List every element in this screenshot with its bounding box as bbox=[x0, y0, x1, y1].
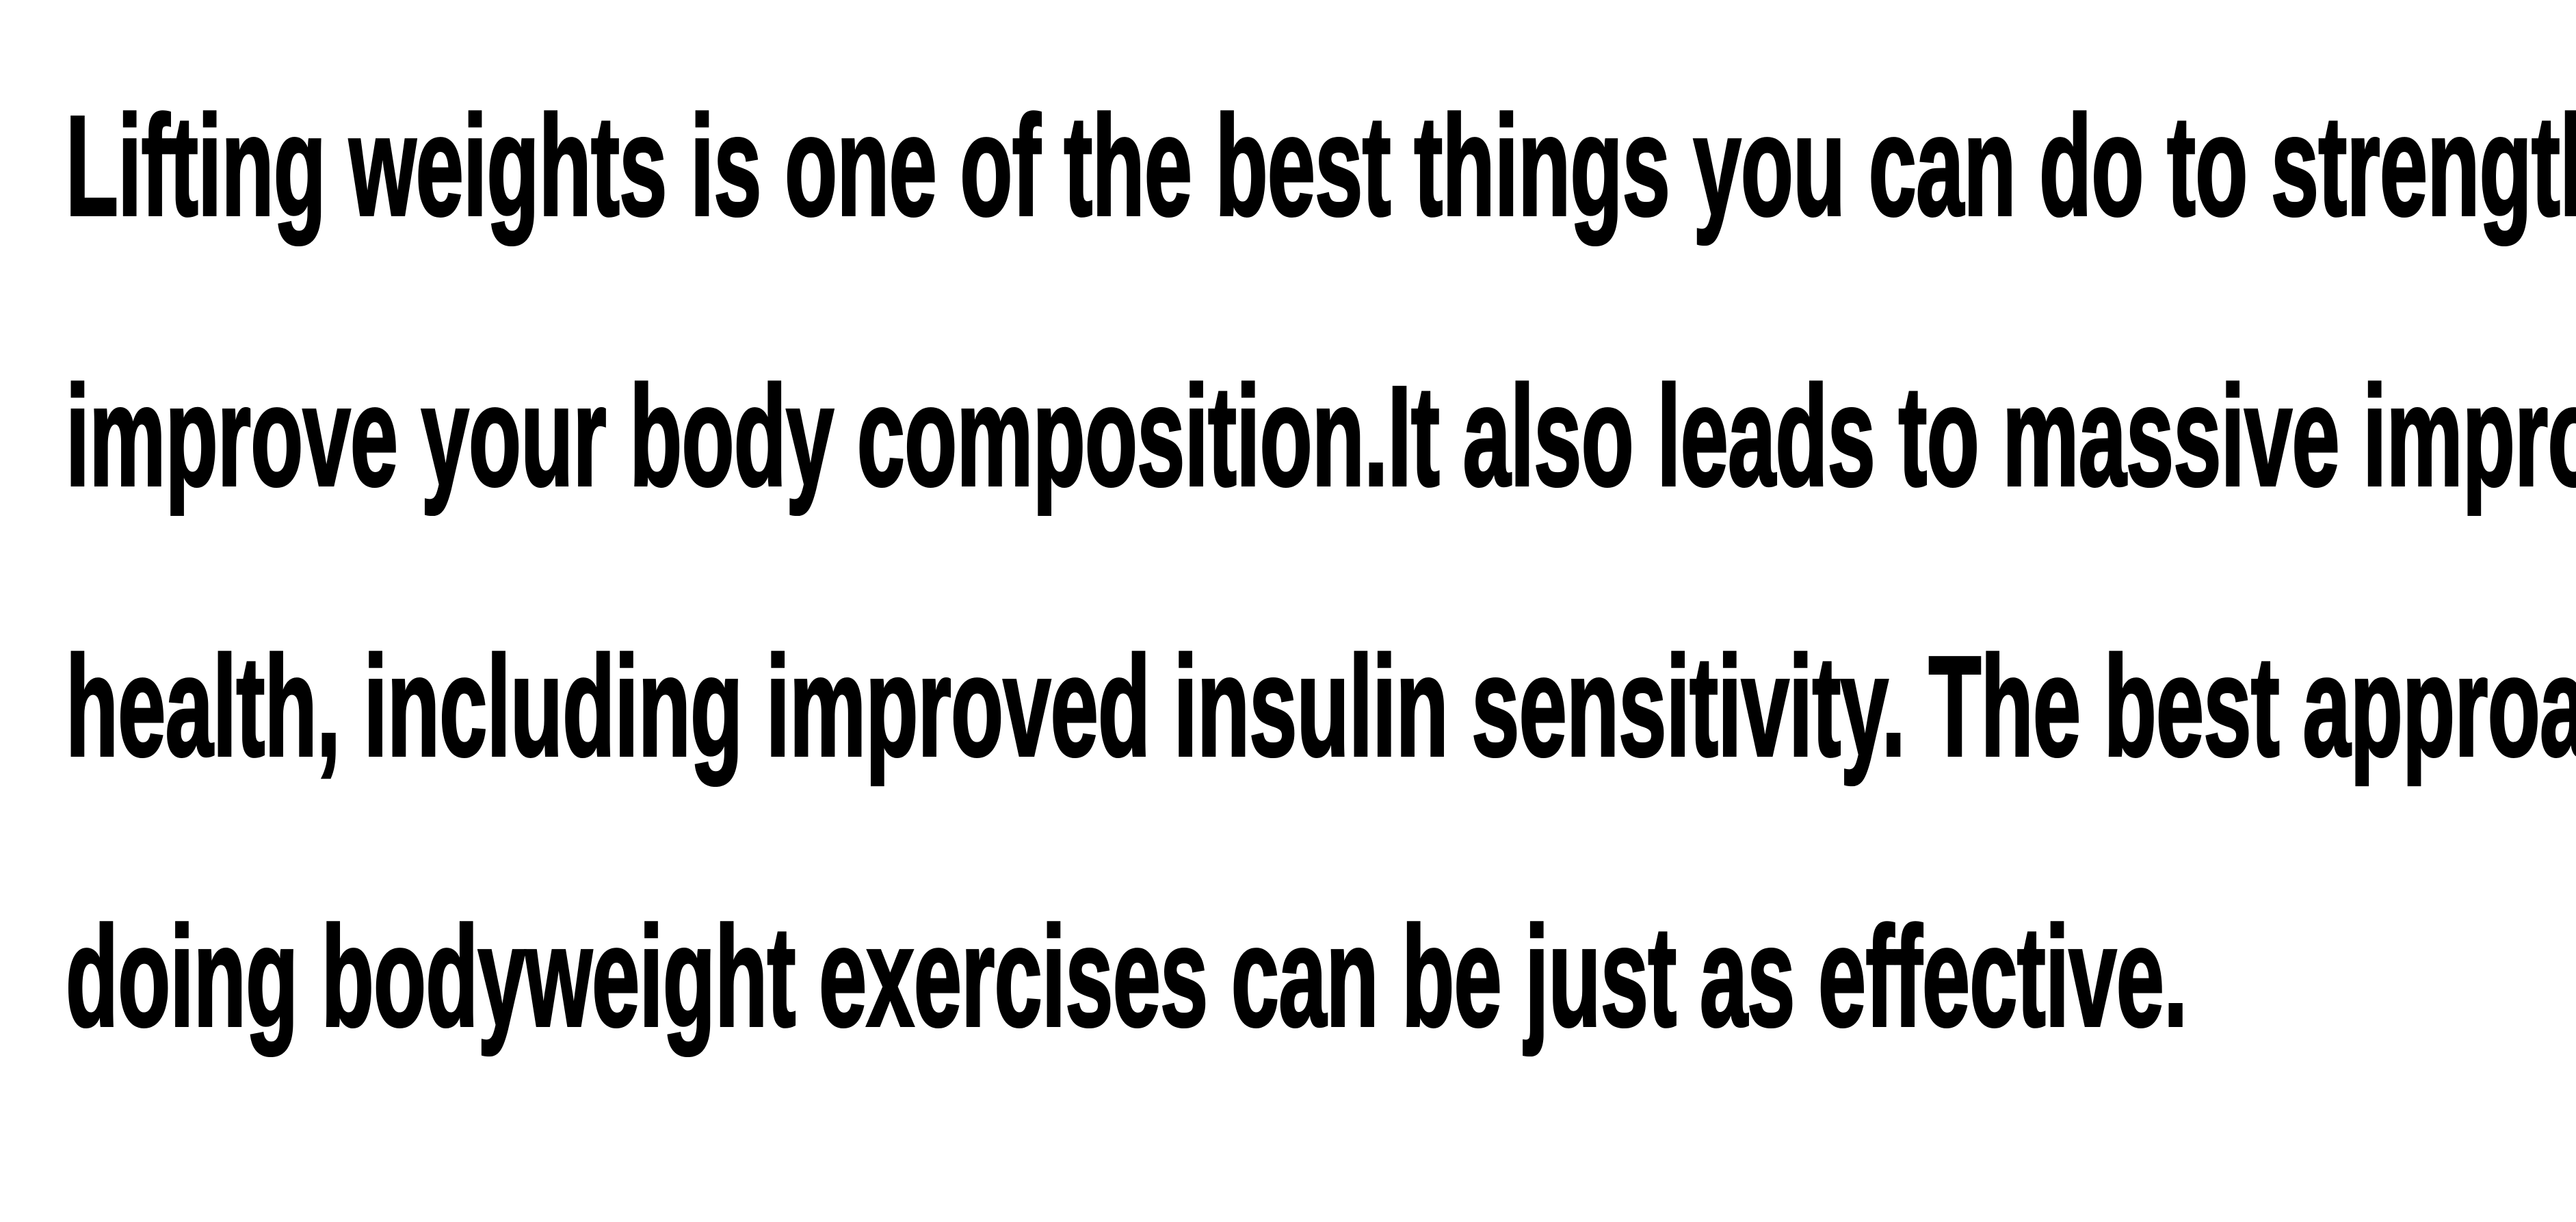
page-canvas: Lifting weights is one of the best thing… bbox=[0, 0, 2576, 1222]
paragraph-text-block: Lifting weights is one of the best thing… bbox=[66, 31, 2501, 1113]
text-line-1: Lifting weights is one of the best thing… bbox=[66, 31, 1539, 302]
text-line-2: improve your body composition.It also le… bbox=[66, 302, 1539, 572]
text-line-3: health, including improved insulin sensi… bbox=[66, 572, 1539, 842]
text-line-4: doing bodyweight exercises can be just a… bbox=[66, 842, 1539, 1113]
